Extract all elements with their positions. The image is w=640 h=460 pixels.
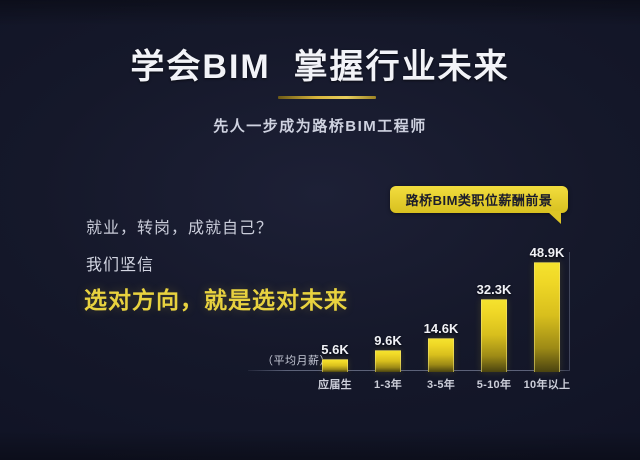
category-label: 5-10年 bbox=[477, 376, 512, 392]
copy-line-1: 就业，转岗，成就自己？ bbox=[86, 214, 273, 238]
bar-value-label: 9.6K bbox=[374, 333, 401, 348]
category-label: 1-3年 bbox=[374, 376, 402, 392]
bar-value-label: 32.3K bbox=[477, 282, 512, 297]
category-label: 应届生 bbox=[318, 376, 352, 392]
title-underline bbox=[278, 96, 376, 99]
bar-group[interactable]: 48.9K bbox=[523, 238, 571, 372]
page-title: 学会BIM 掌握行业未来 bbox=[0, 48, 640, 87]
category-label: 3-5年 bbox=[427, 376, 455, 392]
bar-group[interactable]: 14.6K bbox=[417, 238, 465, 372]
bar-group[interactable]: 32.3K bbox=[470, 238, 518, 372]
bar-value-label: 48.9K bbox=[530, 245, 565, 260]
bar[interactable] bbox=[534, 262, 560, 372]
bar-value-label: 14.6K bbox=[424, 321, 459, 336]
bar[interactable] bbox=[375, 350, 401, 372]
bar[interactable] bbox=[322, 359, 348, 372]
bar[interactable] bbox=[481, 299, 507, 372]
badge-tail-icon bbox=[541, 211, 561, 224]
copy-line-2: 我们坚信 bbox=[86, 251, 154, 275]
slide-canvas: 学会BIM 掌握行业未来 先人一步成为路桥BIM工程师 就业，转岗，成就自己？ … bbox=[0, 0, 640, 460]
bar-group[interactable]: 9.6K bbox=[364, 238, 412, 372]
bar-group[interactable]: 5.6K bbox=[311, 238, 359, 372]
category-label: 10年以上 bbox=[524, 376, 571, 392]
chart-title-badge: 路桥BIM类职位薪酬前景 bbox=[390, 186, 568, 213]
bar-value-label: 5.6K bbox=[321, 342, 348, 357]
bar[interactable] bbox=[428, 338, 454, 372]
page-subtitle: 先人一步成为路桥BIM工程师 bbox=[0, 115, 640, 136]
salary-bar-chart: 5.6K9.6K14.6K32.3K48.9K bbox=[248, 236, 572, 372]
